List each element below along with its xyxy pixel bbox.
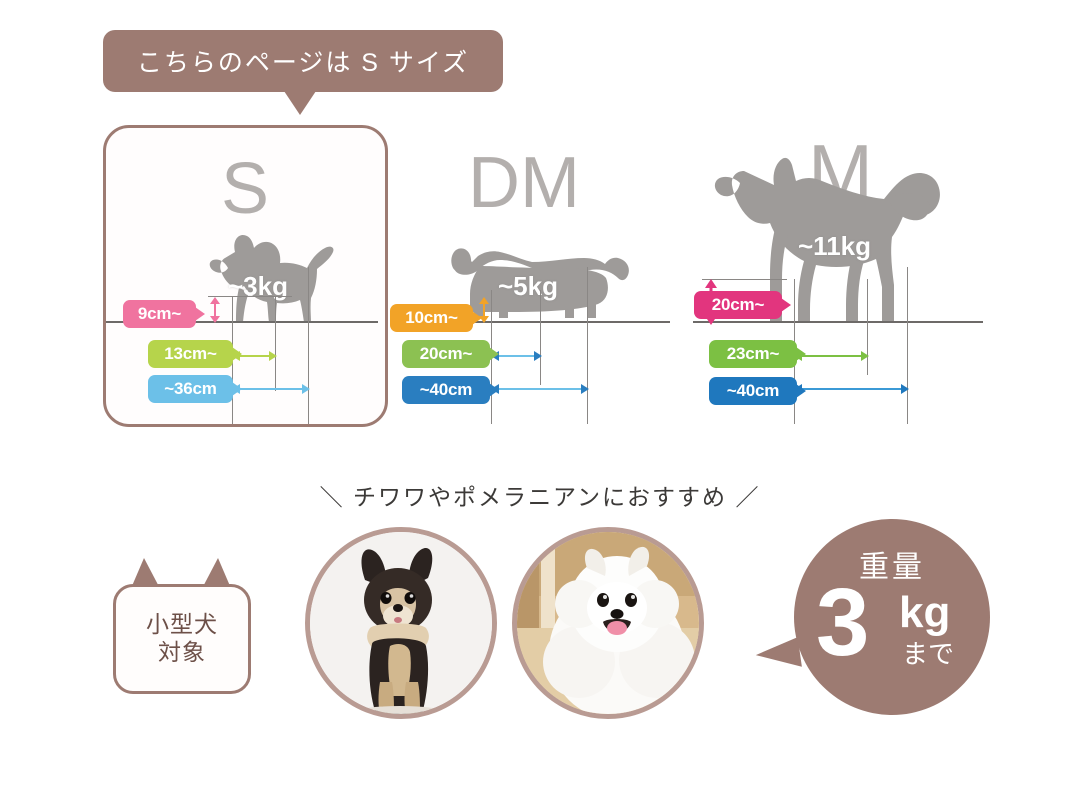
chihuahua-photo <box>305 527 497 719</box>
size-s-tag-height: 9cm~ <box>123 300 196 328</box>
size-m-tag-height: 20cm~ <box>694 291 782 319</box>
s-length-arrow-icon <box>232 383 310 395</box>
size-panel-s: S ~3kg <box>103 125 388 427</box>
chihuahua-photo-image <box>310 532 492 714</box>
weight-badge-tail-icon <box>754 637 802 673</box>
m-ground-line <box>693 321 983 323</box>
m-length-arrow-icon <box>794 383 909 395</box>
size-dm-tag-body-depth: 20cm~ <box>402 340 490 368</box>
m-rear-vline <box>907 267 908 424</box>
size-m-weight-label: ~11kg <box>798 231 871 262</box>
small-dog-badge: 小型犬 対象 <box>108 556 256 696</box>
recommend-slash-left: ＼ <box>320 478 345 512</box>
size-letter-dm: DM <box>468 147 580 219</box>
recommend-slash-right: ／ <box>735 478 760 512</box>
size-dm-tag-height: 10cm~ <box>390 304 473 332</box>
size-s-tag-body-depth: 13cm~ <box>148 340 233 368</box>
size-s-tag-body-length: ~36cm <box>148 375 233 403</box>
pomeranian-photo <box>512 527 704 719</box>
small-dog-badge-line1: 小型犬 <box>146 611 218 639</box>
dm-rear-vline <box>587 267 588 424</box>
dm-mid-vline <box>540 290 541 385</box>
recommend-text: チワワやポメラニアンにおすすめ <box>353 484 727 510</box>
weight-badge-suffix: まで <box>902 641 954 667</box>
size-m-tag-body-depth: 23cm~ <box>709 340 797 368</box>
s-mid-vline <box>275 296 276 391</box>
weight-badge: 重量 3 kg まで <box>794 519 990 715</box>
weight-badge-unit: kg <box>899 591 950 635</box>
page-size-callout: こちらのページは S サイズ <box>103 30 503 92</box>
recommend-line: ＼ チワワやポメラニアンにおすすめ ／ <box>0 478 1080 512</box>
dm-length-arrow-icon <box>491 383 589 395</box>
size-letter-s: S <box>221 153 269 225</box>
size-dm-tag-body-length: ~40cm <box>402 376 490 404</box>
page-size-callout-text: こちらのページは S サイズ <box>137 43 469 79</box>
callout-tail-icon <box>284 91 316 115</box>
pomeranian-photo-image <box>517 532 699 714</box>
size-m-tag-body-length: ~40cm <box>709 377 797 405</box>
small-dog-badge-body: 小型犬 対象 <box>113 584 251 694</box>
size-s-weight-label: ~3kg <box>228 271 288 302</box>
s-height-arrow-icon <box>208 297 222 323</box>
weight-badge-number: 3 <box>816 575 869 671</box>
s-rear-vline <box>308 267 309 424</box>
size-dm-weight-label: ~5kg <box>498 271 558 302</box>
small-dog-badge-line2: 対象 <box>158 639 206 667</box>
